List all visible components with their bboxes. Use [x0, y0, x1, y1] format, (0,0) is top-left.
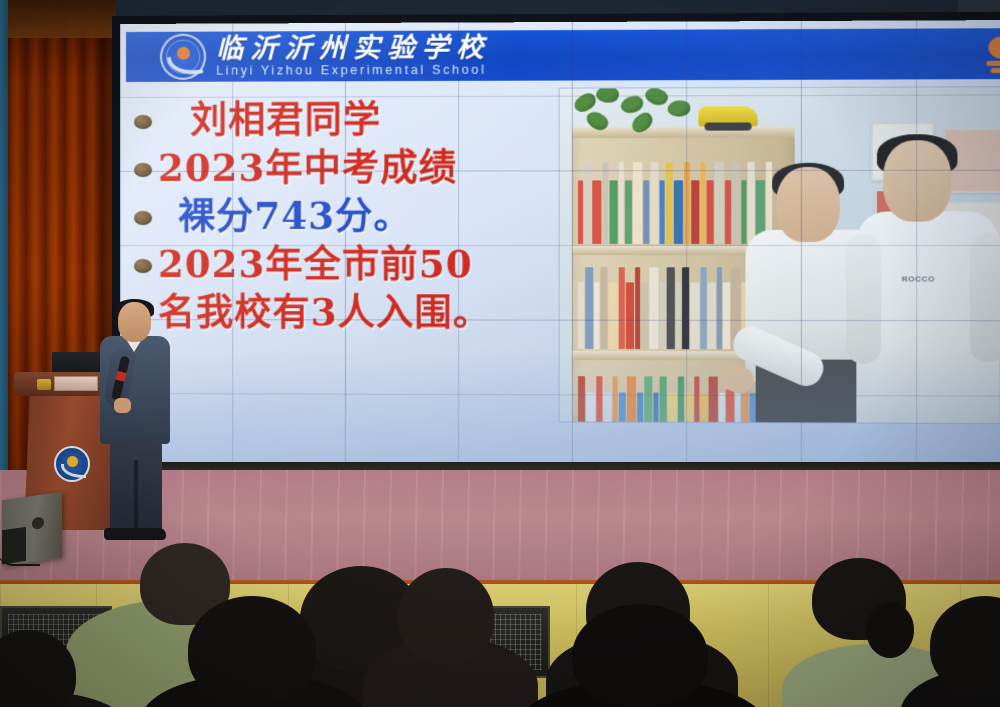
toy-car [698, 106, 757, 126]
sun-shape [988, 36, 1000, 58]
book-spine [641, 283, 648, 349]
book-spine [613, 377, 618, 423]
speaker-cable [0, 548, 40, 566]
bullet-dot-icon [134, 211, 152, 225]
bullet-item: 刘相君同学 [134, 97, 590, 144]
audience-head [398, 568, 494, 664]
presenter-legs [110, 440, 162, 532]
bullet-label: 名我校有3人入围。 [134, 290, 491, 337]
book-spine [619, 392, 626, 423]
bullet-item-continuation: 名我校有3人入围。 [134, 290, 590, 337]
book-spine [635, 267, 640, 349]
book-spine [691, 180, 699, 244]
book-spine [719, 392, 725, 423]
book-spine [633, 163, 642, 244]
logo-ring [166, 40, 200, 74]
speaker-with-microphone [100, 302, 172, 540]
boy-in-white-tshirt: ROCCO [856, 136, 998, 423]
leaf [620, 95, 644, 114]
book-spine [594, 283, 599, 349]
potted-plant [570, 87, 703, 139]
book-spine [690, 283, 699, 349]
book-spine [592, 180, 601, 244]
bullet-label: 2023年中考成绩 [158, 145, 457, 192]
leaf [583, 108, 611, 135]
book-spine [637, 392, 643, 423]
book-spine [700, 267, 706, 349]
banner-text-block: 临沂沂州实验学校 Linyi Yizhou Experimental Schoo… [216, 34, 490, 78]
book-spine [676, 283, 681, 349]
ray-1 [986, 61, 1000, 66]
book-spine [684, 162, 690, 243]
presenter-shoes [104, 528, 166, 540]
audience-head [188, 596, 316, 704]
book-spine [586, 392, 595, 423]
book-spine [717, 267, 722, 349]
book-spine [619, 267, 625, 349]
leaf [628, 110, 656, 136]
leaf [667, 99, 691, 117]
man-face [776, 167, 840, 242]
bullet-label: 裸分743分。 [158, 193, 412, 239]
book-spine [667, 267, 675, 349]
book-spine [578, 377, 585, 424]
book-spine [585, 267, 593, 349]
book-spine [603, 392, 611, 423]
leaf [643, 87, 670, 108]
bullet-dot-icon [134, 259, 152, 273]
auditorium-scene: 临沂沂州实验学校 Linyi Yizhou Experimental Schoo… [0, 0, 1000, 707]
leaf [595, 87, 620, 104]
school-name-cn: 临沂沂州实验学校 [216, 34, 490, 63]
book-spine [715, 162, 724, 244]
podium-nameplate [54, 376, 98, 391]
led-projection-screen[interactable]: 临沂沂州实验学校 Linyi Yizhou Experimental Schoo… [120, 20, 1000, 472]
book-spine [700, 392, 707, 423]
book-spine [678, 377, 684, 423]
book-spine [708, 283, 716, 349]
book-spine [619, 163, 624, 244]
book-spine [610, 180, 618, 244]
book-spine [602, 163, 608, 244]
audience-hair-bun [866, 602, 914, 658]
book-spine [649, 267, 658, 349]
book-spine [653, 392, 658, 423]
book-spine [725, 180, 731, 244]
book-spine [643, 180, 649, 244]
book-spine [666, 163, 673, 244]
book-spine [723, 283, 730, 349]
boy-face [883, 140, 951, 221]
bullet-dot-icon [134, 163, 152, 177]
slide-bullet-list: 刘相君同学 2023年中考成绩 裸分743分。 2023年全市前50 名我校有3… [134, 97, 590, 339]
bullet-dot-icon [134, 115, 152, 129]
curtain-valance [8, 0, 116, 38]
bullet-label: 2023年全市前50 [158, 242, 473, 288]
book-spine [709, 377, 718, 423]
sunrise-badge [980, 36, 1000, 71]
book-spine [660, 377, 667, 423]
school-crest-logo [160, 34, 206, 80]
school-emblem [54, 446, 90, 482]
bullet-item: 2023年全市前50 [134, 242, 590, 288]
book-spine [660, 283, 666, 349]
audience-head [572, 604, 708, 707]
book-spine [707, 180, 714, 244]
shirt-logo-text: ROCCO [902, 274, 935, 283]
bullet-item: 2023年中考成绩 [134, 145, 590, 192]
book-spine [735, 392, 740, 423]
presenter-hand [114, 398, 131, 413]
book-spine [674, 180, 683, 244]
boy-arm-right [970, 234, 1000, 362]
book-spine [660, 180, 665, 244]
book-spine [625, 180, 632, 244]
book-spine [700, 162, 705, 244]
book-spine [732, 162, 740, 244]
book-spine [627, 377, 636, 423]
presenter-face [118, 302, 151, 342]
book-spine [578, 180, 583, 244]
bullet-label: 刘相君同学 [158, 97, 381, 144]
book-spine [596, 377, 602, 423]
book-spine [626, 283, 634, 349]
book-spine [668, 392, 677, 423]
book-spine [685, 392, 693, 423]
book-spine [644, 377, 652, 423]
slide-banner: 临沂沂州实验学校 Linyi Yizhou Experimental Schoo… [126, 28, 1000, 82]
book-spine [650, 163, 658, 244]
book-spine [694, 377, 699, 423]
book-spine [682, 267, 689, 349]
school-name-en: Linyi Yizhou Experimental School [216, 63, 490, 78]
book-spine [584, 163, 591, 244]
boy-arm-left [846, 234, 881, 364]
book-spine [609, 283, 618, 349]
book-spine [578, 283, 584, 349]
ray-2 [991, 68, 1000, 73]
book-spine [600, 267, 607, 349]
slide-photo: ROCCO [560, 87, 1000, 423]
bullet-item: 裸分743分。 [134, 193, 590, 239]
